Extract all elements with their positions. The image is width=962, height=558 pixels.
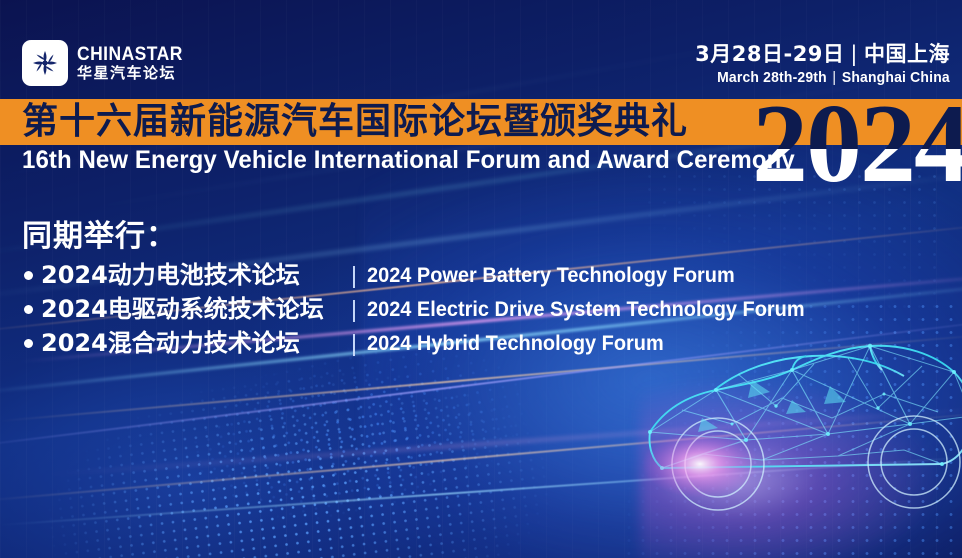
bullet-icon	[24, 271, 33, 280]
location-cn-text: 中国上海	[864, 42, 950, 66]
date-separator-en: |	[827, 69, 842, 87]
forum-divider: |	[341, 298, 367, 321]
list-item: 2024动力电池技术论坛 | 2024 Power Battery Techno…	[24, 260, 828, 290]
page-title-cn: 第十六届新能源汽车国际论坛暨颁奖典礼	[22, 100, 688, 144]
date-separator-cn: |	[844, 42, 864, 66]
chinastar-star-logo-icon	[22, 40, 68, 86]
bullet-icon	[24, 305, 33, 314]
year-2024-graphic: 2024 2024	[708, 92, 962, 196]
list-item: 2024混合动力技术论坛 | 2024 Hybrid Technology Fo…	[24, 328, 828, 358]
event-banner: CHINASTAR 华星汽车论坛 3月28日-29日|中国上海 March 28…	[0, 0, 962, 558]
event-date-location: 3月28日-29日|中国上海 March 28th-29th|Shanghai …	[695, 42, 950, 87]
date-en-text: March 28th-29th	[717, 69, 827, 86]
forum-name-cn: 2024混合动力技术论坛	[41, 331, 341, 355]
forum-name-en: 2024 Hybrid Technology Forum	[367, 333, 664, 354]
forum-name-cn: 2024电驱动系统技术论坛	[41, 297, 341, 321]
date-cn-text: 3月28日-29日	[695, 42, 844, 66]
brand-name-en: CHINASTAR	[77, 45, 183, 64]
list-item: 2024电驱动系统技术论坛 | 2024 Electric Drive Syst…	[24, 294, 828, 324]
bullet-icon	[24, 339, 33, 348]
concurrent-heading: 同期举行：	[22, 222, 177, 252]
brand-wordmark: CHINASTAR 华星汽车论坛	[77, 45, 192, 81]
event-date-en: March 28th-29th|Shanghai China	[713, 69, 950, 87]
brand-name-cn: 华星汽车论坛	[77, 66, 192, 81]
forum-divider: |	[341, 264, 367, 287]
forum-divider: |	[341, 332, 367, 355]
event-date-cn: 3月28日-29日|中国上海	[695, 42, 950, 66]
brand-logo[interactable]: CHINASTAR 华星汽车论坛	[22, 40, 192, 86]
concurrent-forum-list: 2024动力电池技术论坛 | 2024 Power Battery Techno…	[24, 260, 828, 362]
forum-name-en: 2024 Electric Drive System Technology Fo…	[367, 299, 805, 320]
forum-name-en: 2024 Power Battery Technology Forum	[367, 265, 735, 286]
page-title-en: 16th New Energy Vehicle International Fo…	[22, 148, 795, 173]
location-en-text: Shanghai China	[842, 69, 950, 86]
forum-name-cn: 2024动力电池技术论坛	[41, 263, 341, 287]
